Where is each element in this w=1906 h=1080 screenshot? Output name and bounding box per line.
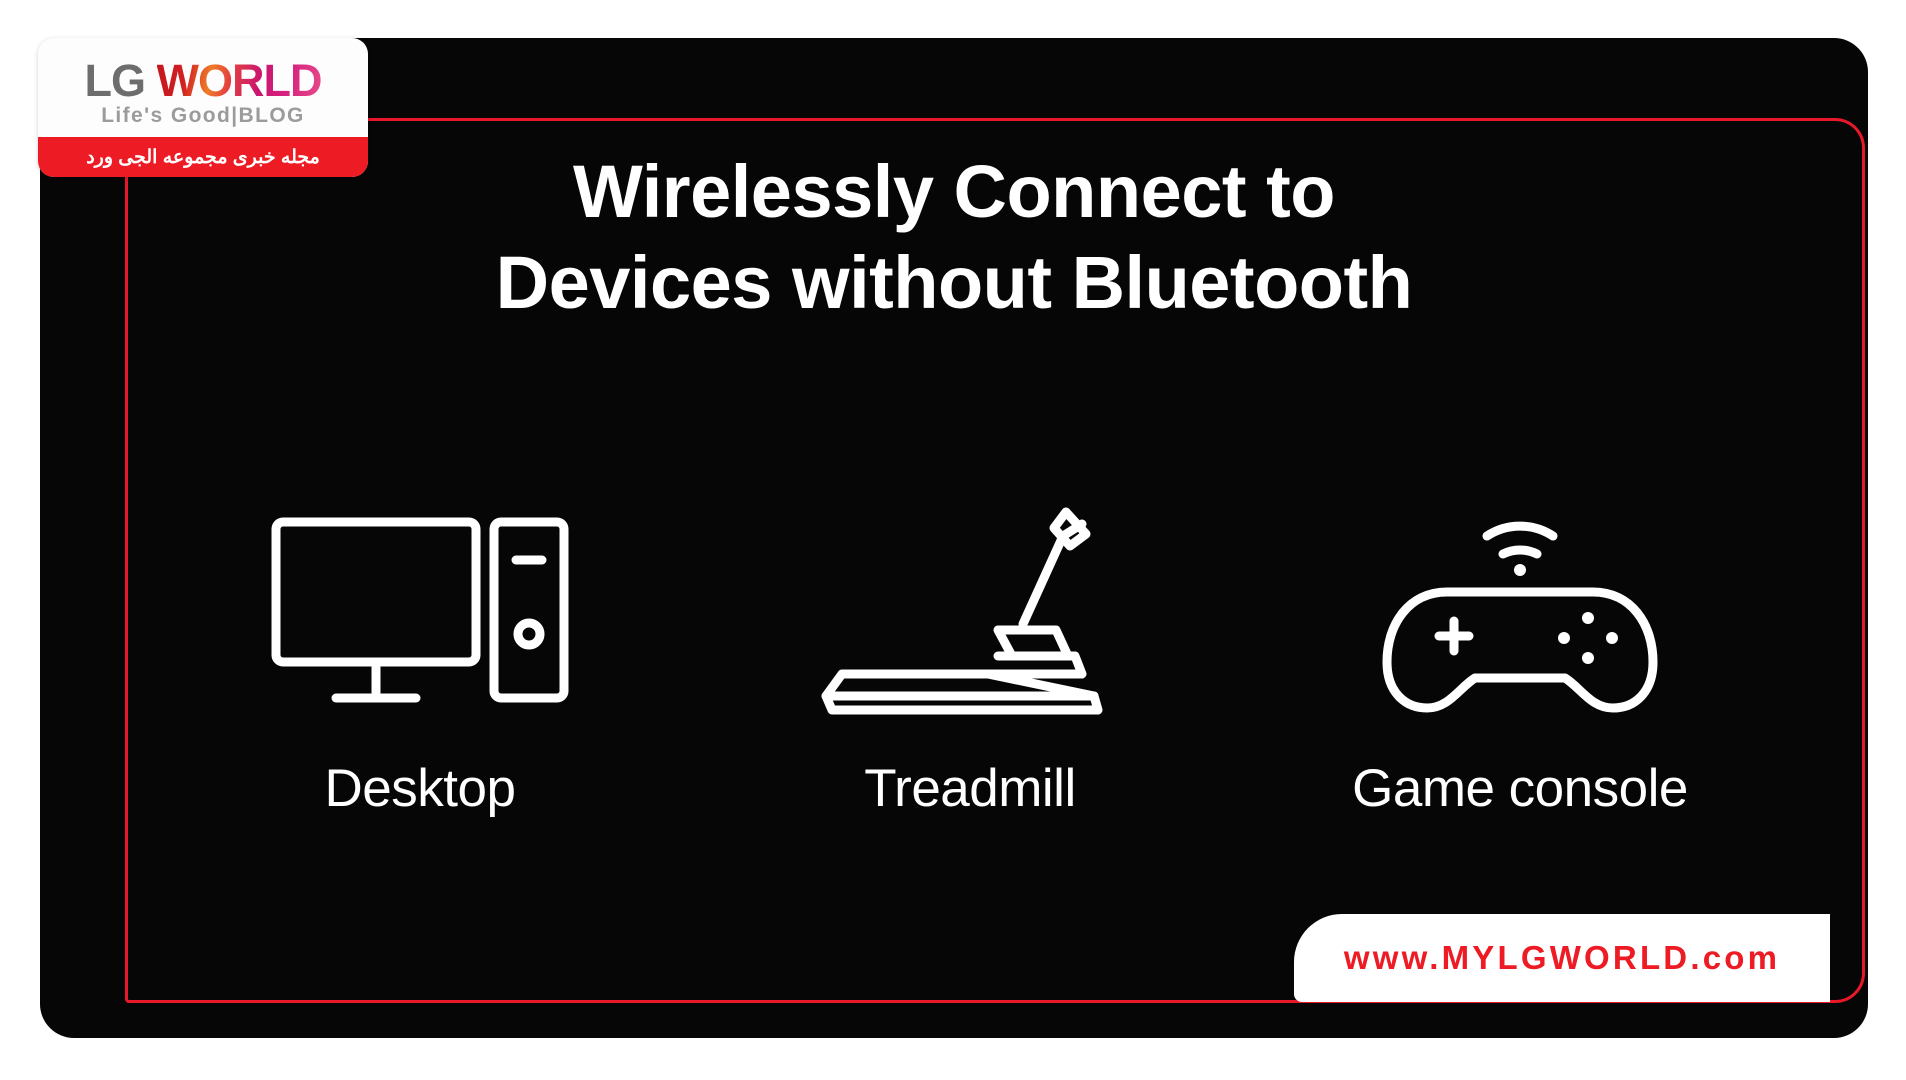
headline-line-1: Wirelessly Connect to (573, 150, 1335, 233)
persian-subtitle-bar: مجله خبری مجموعه الجی ورد (38, 137, 368, 177)
device-item-game-console: Game console (1260, 478, 1780, 819)
device-label: Treadmill (864, 758, 1075, 819)
image-canvas: Wirelessly Connect to Devices without Bl… (0, 0, 1906, 1080)
brand-wordmark: LG WORLD (38, 55, 368, 107)
game-controller-wifi-icon (1375, 478, 1665, 748)
device-item-treadmill: Treadmill (710, 478, 1230, 819)
device-item-desktop: Desktop (160, 478, 680, 819)
promo-card: Wirelessly Connect to Devices without Bl… (40, 38, 1868, 1038)
brand-tagline: Life's Good|BLOG (38, 104, 368, 128)
lg-world-logo-badge[interactable]: LG WORLD Life's Good|BLOG مجله خبری مجمو… (38, 38, 368, 177)
device-label: Desktop (325, 758, 516, 819)
website-url-badge[interactable]: www.MYLGWORLD.com (1294, 914, 1830, 1002)
persian-subtitle-text: مجله خبری مجموعه الجی ورد (86, 146, 320, 169)
website-url-text: www.MYLGWORLD.com (1344, 939, 1780, 977)
desktop-computer-icon (270, 478, 570, 748)
brand-lg-text: LG (85, 55, 157, 106)
device-list: Desktop Tread (160, 478, 1780, 898)
treadmill-icon (820, 478, 1120, 748)
headline-line-2: Devices without Bluetooth (40, 237, 1868, 328)
brand-world-text: WORLD (157, 55, 322, 106)
device-label: Game console (1352, 758, 1688, 819)
